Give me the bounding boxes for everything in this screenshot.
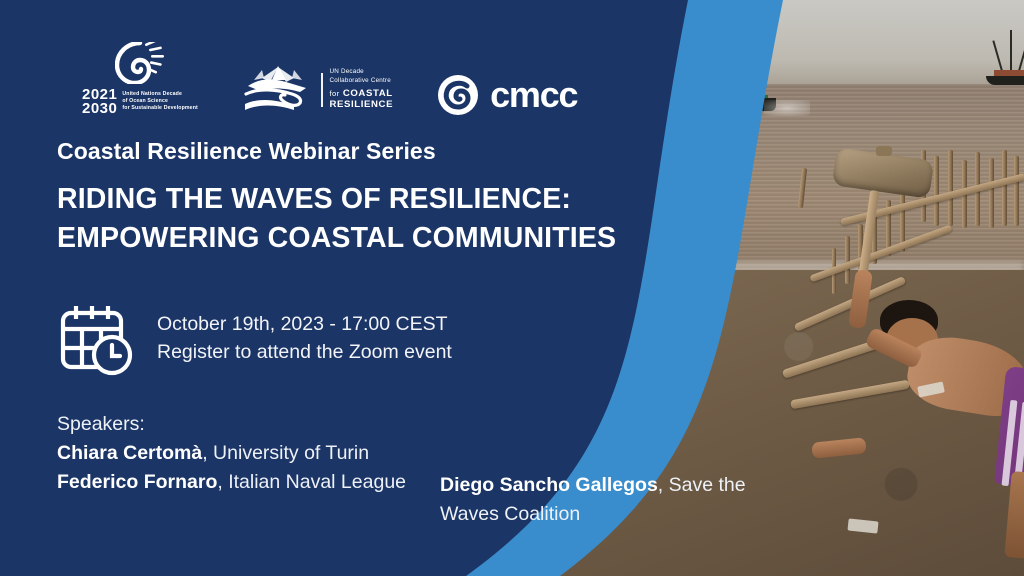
- photo-credit: © Debsuddha Banerjee / ClimateVisuals: [1011, 568, 1022, 576]
- event-details: October 19th, 2023 - 17:00 CEST Register…: [57, 300, 452, 378]
- speaker-name: Chiara Certomà: [57, 442, 202, 464]
- logo-bar: 2021 2030 United Nations Decade of Ocean…: [82, 42, 577, 116]
- un-decade-years: 2021 2030: [82, 88, 117, 116]
- speaker-entry: Chiara Certomà, University of Turin: [57, 439, 406, 467]
- worker-with-mallet: [830, 190, 1020, 520]
- un-ocean-decade-logo: 2021 2030 United Nations Decade of Ocean…: [82, 42, 198, 116]
- dcc-subtitle: UN Decade Collaborative Centre: [330, 68, 394, 85]
- fishing-boat-left: [678, 62, 788, 110]
- cmcc-spiral-icon: [437, 74, 479, 116]
- speaker-affiliation: , Italian Naval League: [217, 471, 406, 493]
- cmcc-logo: cmcc: [437, 74, 577, 116]
- speaker-entry: Diego Sancho Gallegos, Save the Waves Co…: [440, 471, 800, 528]
- un-decade-tagline: United Nations Decade of Ocean Science f…: [122, 91, 198, 112]
- ocean-decade-wave-icon: [115, 42, 165, 84]
- event-datetime: October 19th, 2023 - 17:00 CEST: [157, 311, 452, 339]
- register-cta[interactable]: Register to attend the Zoom event: [157, 339, 452, 367]
- dcc-coastal-resilience-logo: UN Decade Collaborative Centre for COAST…: [242, 64, 393, 116]
- logo-divider: [321, 73, 323, 107]
- speakers-column-right: Diego Sancho Gallegos, Save the Waves Co…: [440, 471, 800, 528]
- speakers-column-left: Chiara Certomà, University of Turin Fede…: [57, 439, 406, 496]
- cmcc-wordmark: cmcc: [490, 77, 577, 113]
- speaker-affiliation: , University of Turin: [202, 442, 369, 464]
- speaker-entry: Federico Fornaro, Italian Naval League: [57, 468, 406, 496]
- speaker-name: Federico Fornaro: [57, 471, 217, 493]
- fishing-boat-right: [980, 30, 1024, 82]
- webinar-promo-poster: 2021 2030 United Nations Decade of Ocean…: [0, 0, 1024, 576]
- page-title: RIDING THE WAVES OF RESILIENCE: EMPOWERI…: [57, 180, 616, 258]
- title-line-1: RIDING THE WAVES OF RESILIENCE:: [57, 180, 616, 219]
- title-line-2: EMPOWERING COASTAL COMMUNITIES: [57, 219, 616, 258]
- speakers-label: Speakers:: [57, 410, 406, 438]
- speakers-block: Speakers: Chiara Certomà, University of …: [57, 410, 406, 496]
- speaker-name: Diego Sancho Gallegos: [440, 474, 658, 496]
- dcc-wave-sun-icon: [242, 64, 314, 116]
- calendar-clock-icon: [57, 300, 135, 378]
- series-label: Coastal Resilience Webinar Series: [57, 138, 436, 165]
- dcc-title: for COASTAL RESILIENCE: [330, 88, 394, 111]
